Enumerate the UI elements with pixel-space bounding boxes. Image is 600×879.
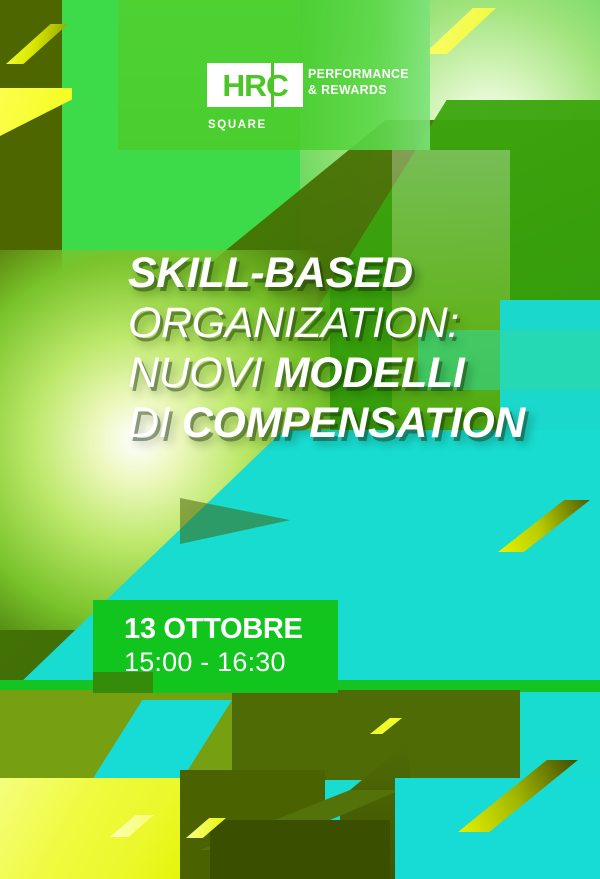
title-line-2: ORGANIZATION: — [128, 298, 578, 348]
brand-tagline-line-2: & REWARDS — [308, 82, 409, 98]
background-olive-shadow-bottom — [210, 820, 390, 879]
title-line-4-bold: COMPENSATION — [182, 399, 525, 447]
event-datetime: 13 OTTOBRE 15:00 - 16:30 — [124, 612, 354, 678]
title-line-1: SKILL-BASED — [128, 248, 578, 298]
brand-tagline: PERFORMANCE & REWARDS — [308, 66, 409, 97]
title-line-3-light: NUOVI — [128, 349, 274, 397]
title-line-4-light: DI — [128, 399, 182, 447]
background-yellow-block-overlay — [0, 778, 186, 879]
poster-title: SKILL-BASED ORGANIZATION: NUOVI MODELLI … — [128, 248, 578, 448]
brand-tagline-line-1: PERFORMANCE — [308, 66, 409, 82]
event-time: 15:00 - 16:30 — [124, 646, 354, 678]
hrc-logo-mark: HRC — [207, 63, 303, 107]
title-line-4: DI COMPENSATION — [128, 398, 578, 448]
background-olive-block-right — [232, 690, 520, 780]
hrc-logo-text: HRC — [222, 70, 287, 101]
poster-header: HRC SQUARE PERFORMANCE & REWARDS — [0, 0, 600, 150]
title-line-3: NUOVI MODELLI — [128, 348, 578, 398]
logo-subtitle: SQUARE — [208, 119, 267, 131]
background-cyan-bottom-right — [395, 778, 600, 879]
event-date: 13 OTTOBRE — [124, 612, 354, 646]
event-poster: HRC SQUARE PERFORMANCE & REWARDS SKILL-B… — [0, 0, 600, 879]
title-line-3-bold: MODELLI — [274, 349, 465, 397]
hrc-logo-divider — [271, 63, 274, 107]
